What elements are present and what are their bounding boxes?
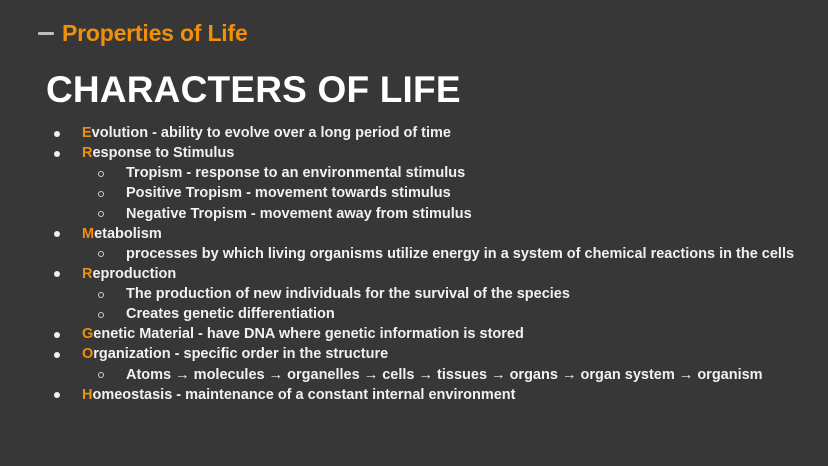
list-item-text: Evolution - ability to evolve over a lon… <box>82 124 816 143</box>
bullet-glyph <box>98 211 104 217</box>
list-item-text: Homeostasis - maintenance of a constant … <box>82 386 816 405</box>
list-item: Genetic Material - have DNA where geneti… <box>46 325 816 344</box>
mnemonic-initial: R <box>82 266 92 282</box>
mnemonic-initial: G <box>82 326 93 342</box>
mnemonic-initial: E <box>82 125 92 141</box>
bullet-glyph <box>98 372 104 378</box>
bullet-circle-icon <box>98 245 126 264</box>
list-item-text: Negative Tropism - movement away from st… <box>126 205 816 224</box>
mnemonic-initial: R <box>82 145 92 161</box>
list-item-body: rganization - specific order in the stru… <box>93 346 388 362</box>
list-item: Homeostasis - maintenance of a constant … <box>46 386 816 405</box>
mnemonic-initial: M <box>82 226 94 242</box>
list-item-text: Tropism - response to an environmental s… <box>126 164 816 183</box>
dash-icon <box>38 32 54 35</box>
list-item-text: Response to Stimulus <box>82 144 816 163</box>
bullet-glyph <box>54 131 60 137</box>
list-item-text: Reproduction <box>82 265 816 284</box>
bullet-list: Evolution - ability to evolve over a lon… <box>46 124 816 406</box>
bullet-disc-icon <box>54 225 82 244</box>
bullet-glyph <box>98 292 104 298</box>
mnemonic-initial: H <box>82 387 92 403</box>
bullet-glyph <box>54 352 60 358</box>
list-item-body: omeostasis - maintenance of a constant i… <box>92 387 515 403</box>
list-item: Response to Stimulus <box>46 144 816 163</box>
bullet-circle-icon <box>98 285 126 304</box>
bullet-disc-icon <box>54 144 82 163</box>
bullet-disc-icon <box>54 124 82 143</box>
bullet-disc-icon <box>54 325 82 344</box>
list-item: Organization - specific order in the str… <box>46 345 816 364</box>
list-item-text: Positive Tropism - movement towards stim… <box>126 184 816 203</box>
list-item: The production of new individuals for th… <box>46 285 816 304</box>
list-item: Negative Tropism - movement away from st… <box>46 205 816 224</box>
list-item-body: esponse to Stimulus <box>92 145 234 161</box>
list-item: Creates genetic differentiation <box>46 305 816 324</box>
section-label: Properties of Life <box>62 22 248 45</box>
list-item: processes by which living organisms util… <box>46 245 816 264</box>
bullet-glyph <box>54 151 60 157</box>
bullet-circle-icon <box>98 366 126 385</box>
bullet-glyph <box>54 231 60 237</box>
page-title: CHARACTERS OF LIFE <box>46 70 461 110</box>
slide-canvas: Properties of Life CHARACTERS OF LIFE Ev… <box>0 0 828 466</box>
list-item-body: volution - ability to evolve over a long… <box>92 125 451 141</box>
list-item-text: Organization - specific order in the str… <box>82 345 816 364</box>
bullet-glyph <box>98 312 104 318</box>
list-item-body: etabolism <box>94 226 162 242</box>
bullet-glyph <box>98 171 104 177</box>
list-item-text: Atoms → molecules → organelles → cells →… <box>126 366 816 385</box>
bullet-disc-icon <box>54 386 82 405</box>
list-item: Reproduction <box>46 265 816 284</box>
list-item-text: Creates genetic differentiation <box>126 305 816 324</box>
list-item: Atoms → molecules → organelles → cells →… <box>46 366 816 385</box>
bullet-glyph <box>98 191 104 197</box>
list-item: Metabolism <box>46 225 816 244</box>
bullet-glyph <box>54 271 60 277</box>
bullet-glyph <box>54 332 60 338</box>
list-item-text: Genetic Material - have DNA where geneti… <box>82 325 816 344</box>
list-item-text: The production of new individuals for th… <box>126 285 816 304</box>
list-item-body: eproduction <box>92 266 176 282</box>
list-item-text: processes by which living organisms util… <box>126 245 816 264</box>
list-item: Tropism - response to an environmental s… <box>46 164 816 183</box>
list-item-text: Metabolism <box>82 225 816 244</box>
list-item-body: enetic Material - have DNA where genetic… <box>93 326 524 342</box>
bullet-circle-icon <box>98 305 126 324</box>
section-eyebrow: Properties of Life <box>38 22 248 45</box>
mnemonic-initial: O <box>82 346 93 362</box>
bullet-circle-icon <box>98 164 126 183</box>
list-item: Evolution - ability to evolve over a lon… <box>46 124 816 143</box>
bullet-glyph <box>98 251 104 257</box>
bullet-circle-icon <box>98 205 126 224</box>
bullet-circle-icon <box>98 184 126 203</box>
bullet-disc-icon <box>54 345 82 364</box>
list-item: Positive Tropism - movement towards stim… <box>46 184 816 203</box>
bullet-disc-icon <box>54 265 82 284</box>
bullet-glyph <box>54 392 60 398</box>
